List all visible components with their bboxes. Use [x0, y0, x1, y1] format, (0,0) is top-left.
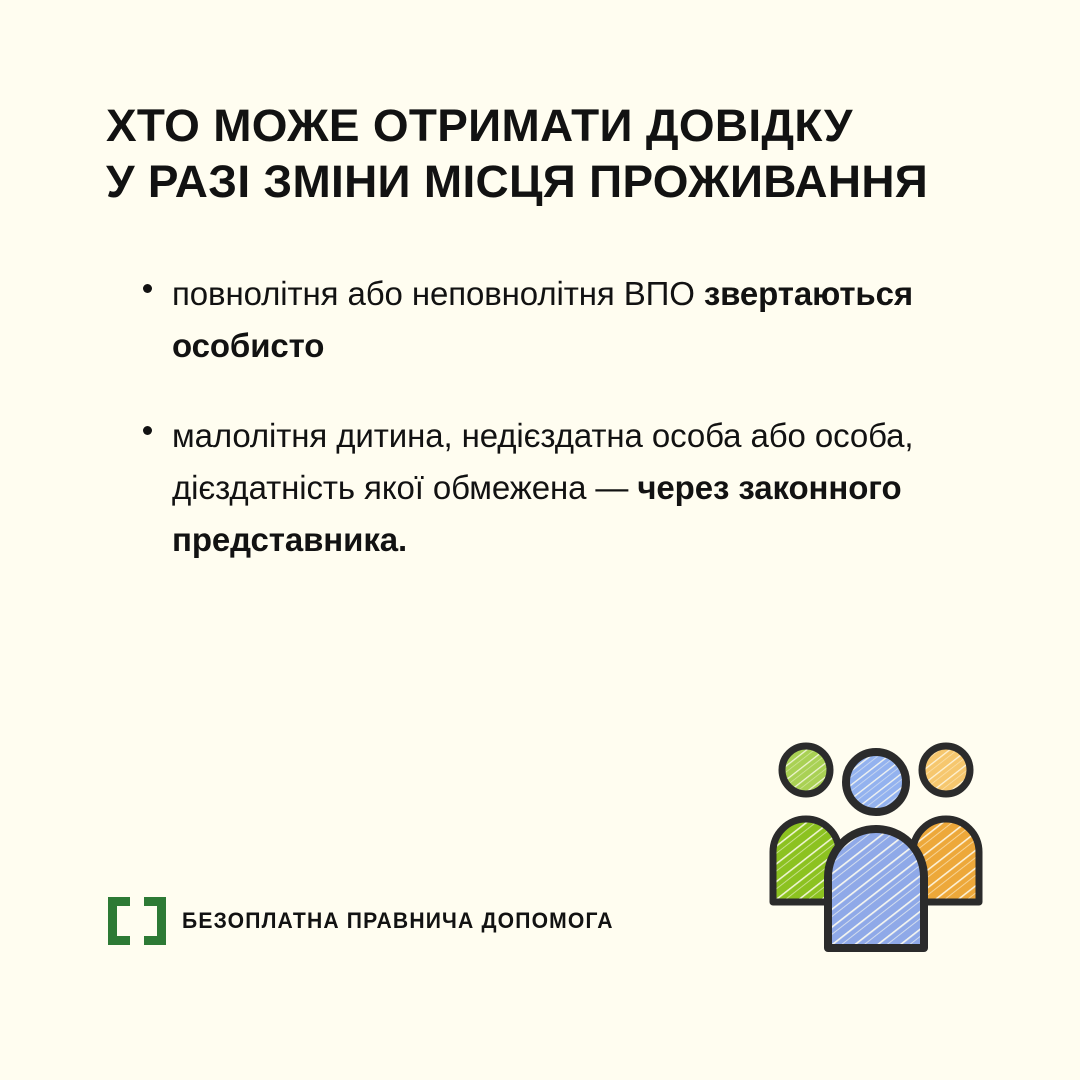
bullet-list: повнолітня або неповнолітня ВПО звертают…	[140, 268, 970, 566]
three-people-group-icon	[752, 722, 1000, 970]
brackets-icon	[108, 897, 166, 945]
brand-logo: БЕЗОПЛАТНА ПРАВНИЧА ДОПОМОГА	[108, 897, 632, 945]
bullet-dot-icon	[143, 426, 152, 435]
list-item-text: малолітня дитина, недієздатна особа або …	[172, 410, 970, 566]
bullet-dot-icon	[143, 284, 152, 293]
poster-canvas: ХТО МОЖЕ ОТРИМАТИ ДОВІДКУ У РАЗІ ЗМІНИ М…	[0, 0, 1080, 1080]
title-line-1: ХТО МОЖЕ ОТРИМАТИ ДОВІДКУ	[106, 98, 1004, 154]
list-item-text: повнолітня або неповнолітня ВПО звертают…	[172, 268, 970, 372]
title-line-2: У РАЗІ ЗМІНИ МІСЦЯ ПРОЖИВАННЯ	[106, 154, 1004, 210]
person-center-blue	[828, 752, 924, 948]
list-item-text-normal: повнолітня або неповнолітня ВПО	[172, 275, 704, 312]
brand-logo-text: БЕЗОПЛАТНА ПРАВНИЧА ДОПОМОГА	[182, 908, 614, 934]
list-item: малолітня дитина, недієздатна особа або …	[140, 410, 970, 566]
page-title: ХТО МОЖЕ ОТРИМАТИ ДОВІДКУ У РАЗІ ЗМІНИ М…	[106, 98, 986, 210]
list-item: повнолітня або неповнолітня ВПО звертают…	[140, 268, 970, 372]
